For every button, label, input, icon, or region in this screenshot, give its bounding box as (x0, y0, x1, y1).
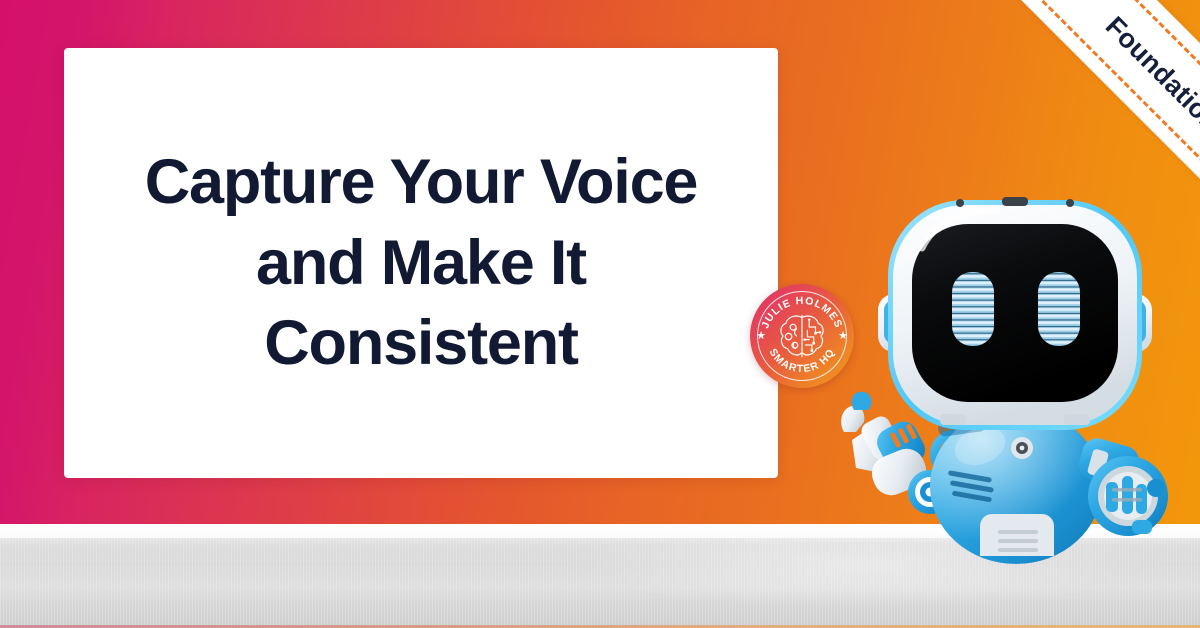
banner-canvas: Capture Your Voice and Make It Consisten… (0, 0, 1200, 628)
badge-star-right: ★ (838, 331, 848, 341)
page-title: Capture Your Voice and Make It Consisten… (64, 142, 778, 384)
robot-body (930, 408, 1102, 564)
robot-mascot (836, 196, 1200, 544)
brand-badge: JULIE HOLMES SMARTER HQ (750, 284, 854, 388)
robot-left-eye (952, 272, 994, 346)
badge-star-left: ★ (756, 331, 766, 341)
robot-head (878, 197, 1152, 430)
robot-right-eye (1038, 272, 1080, 346)
brain-circuit-icon (775, 309, 829, 363)
headline-card: Capture Your Voice and Make It Consisten… (64, 48, 778, 478)
